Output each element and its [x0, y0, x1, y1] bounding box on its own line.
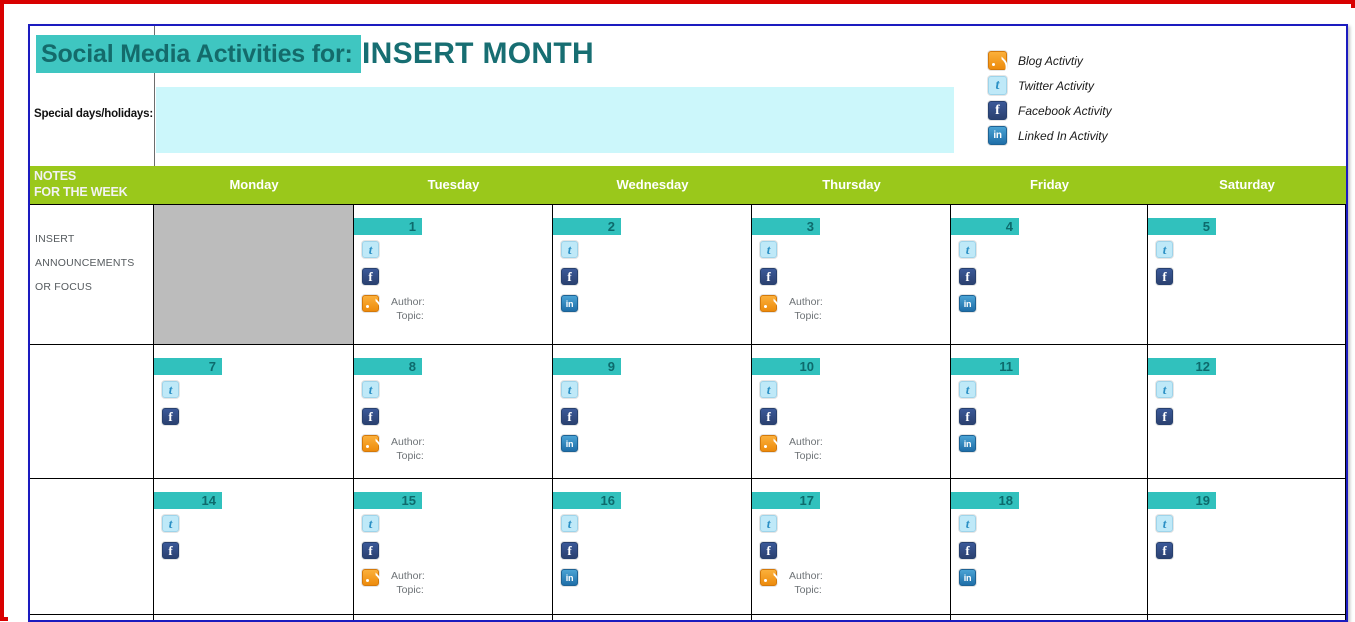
- activity-entry-facebook: [760, 268, 823, 295]
- activity-entry-twitter: [1156, 241, 1173, 268]
- day-cell[interactable]: [1148, 615, 1346, 620]
- activity-icon-stack: [561, 515, 578, 596]
- facebook-icon[interactable]: [760, 408, 777, 425]
- week-row: 1415Author:Topic:1617Author:Topic:1819: [30, 478, 1346, 614]
- activity-entry-linkedin: [561, 435, 578, 462]
- legend: Blog Activtiy Twitter Activity Facebook …: [988, 48, 1112, 148]
- activity-entry-blog: Author:Topic:: [362, 435, 425, 467]
- blog-rss-icon[interactable]: [760, 569, 777, 586]
- day-cell[interactable]: 5: [1148, 205, 1346, 344]
- linkedin-icon[interactable]: [561, 435, 578, 452]
- linkedin-icon: [988, 126, 1007, 145]
- activity-icon-stack: [162, 515, 179, 569]
- activity-entry-facebook: [760, 542, 823, 569]
- author-label: Author:: [789, 436, 823, 448]
- activity-entry-linkedin: [959, 569, 976, 596]
- activity-icon-stack: Author:Topic:: [362, 241, 425, 327]
- facebook-icon[interactable]: [362, 542, 379, 559]
- day-cell[interactable]: 9: [553, 345, 752, 478]
- twitter-icon[interactable]: [162, 381, 179, 398]
- date-badge: 15: [354, 492, 422, 509]
- legend-label-linkedin: Linked In Activity: [1018, 129, 1108, 143]
- date-badge: 17: [752, 492, 820, 509]
- day-cell[interactable]: 10Author:Topic:: [752, 345, 951, 478]
- week-row: INSERTANNOUNCEMENTSOR FOCUS1Author:Topic…: [30, 204, 1346, 344]
- author-label: Author:: [391, 436, 425, 448]
- activity-entry-facebook: [362, 268, 425, 295]
- activity-entry-twitter: [362, 241, 425, 268]
- activity-entry-twitter: [362, 381, 425, 408]
- activity-entry-twitter: [760, 241, 823, 268]
- topic-label: Topic:: [789, 449, 823, 463]
- twitter-icon[interactable]: [561, 241, 578, 258]
- blog-rss-icon[interactable]: [760, 435, 777, 452]
- topic-label: Topic:: [789, 583, 823, 597]
- facebook-icon[interactable]: [162, 542, 179, 559]
- activity-entry-twitter: [162, 515, 179, 542]
- date-badge: 2: [553, 218, 621, 235]
- notes-cell[interactable]: [30, 345, 154, 478]
- activity-entry-twitter: [959, 381, 976, 408]
- day-cell[interactable]: [154, 615, 354, 620]
- blog-author-topic-labels[interactable]: Author:Topic:: [789, 295, 823, 323]
- week-row: 78Author:Topic:910Author:Topic:1112: [30, 344, 1346, 478]
- notes-cell[interactable]: [30, 479, 154, 614]
- activity-entry-facebook: [362, 408, 425, 435]
- legend-label-facebook: Facebook Activity: [1018, 104, 1112, 118]
- activity-entry-twitter: [959, 241, 976, 268]
- activity-entry-twitter: [561, 381, 578, 408]
- day-header-thursday: Thursday: [752, 166, 951, 204]
- white-mat: Social Media Activities for: INSERT MONT…: [8, 8, 1355, 621]
- activity-entry-twitter: [362, 515, 425, 542]
- month-placeholder[interactable]: INSERT MONTH: [362, 34, 594, 74]
- twitter-icon[interactable]: [760, 515, 777, 532]
- activity-entry-linkedin: [561, 569, 578, 596]
- blog-rss-icon[interactable]: [362, 435, 379, 452]
- date-badge: 9: [553, 358, 621, 375]
- activity-entry-facebook: [162, 542, 179, 569]
- day-cell[interactable]: 8Author:Topic:: [354, 345, 553, 478]
- topic-label: Topic:: [391, 309, 425, 323]
- twitter-icon[interactable]: [1156, 515, 1173, 532]
- notes-header-line1: NOTES: [34, 168, 127, 184]
- sheet-header: Social Media Activities for: INSERT MONT…: [30, 26, 1346, 166]
- day-cell[interactable]: 14: [154, 479, 354, 614]
- blog-rss-icon[interactable]: [760, 295, 777, 312]
- facebook-icon[interactable]: [561, 542, 578, 559]
- activity-entry-twitter: [1156, 515, 1173, 542]
- linkedin-icon[interactable]: [959, 569, 976, 586]
- facebook-icon[interactable]: [760, 268, 777, 285]
- day-cell[interactable]: 18: [951, 479, 1148, 614]
- facebook-icon[interactable]: [959, 408, 976, 425]
- day-header-monday: Monday: [154, 166, 354, 204]
- twitter-icon[interactable]: [362, 241, 379, 258]
- activity-icon-stack: [1156, 381, 1173, 435]
- twitter-icon[interactable]: [1156, 241, 1173, 258]
- day-cell[interactable]: [354, 615, 553, 620]
- day-cell[interactable]: 19: [1148, 479, 1346, 614]
- topic-label: Topic:: [391, 583, 425, 597]
- activity-entry-facebook: [561, 268, 578, 295]
- activity-icon-stack: [959, 381, 976, 462]
- day-cell[interactable]: 3Author:Topic:: [752, 205, 951, 344]
- blog-rss-icon: [988, 51, 1007, 70]
- activity-entry-facebook: [760, 408, 823, 435]
- twitter-icon: [988, 76, 1007, 95]
- page-title-prefix: Social Media Activities for:: [36, 35, 361, 73]
- day-cell[interactable]: 15Author:Topic:: [354, 479, 553, 614]
- twitter-icon[interactable]: [561, 515, 578, 532]
- legend-item-twitter: Twitter Activity: [988, 73, 1112, 98]
- date-badge: 19: [1148, 492, 1216, 509]
- activity-entry-blog: Author:Topic:: [362, 295, 425, 327]
- day-header-row: NOTES FOR THE WEEK MondayTuesdayWednesda…: [30, 166, 1346, 204]
- twitter-icon[interactable]: [959, 241, 976, 258]
- blog-author-topic-labels[interactable]: Author:Topic:: [789, 569, 823, 597]
- date-badge: 10: [752, 358, 820, 375]
- activity-entry-facebook: [1156, 268, 1173, 295]
- activity-icon-stack: [1156, 241, 1173, 295]
- blog-author-topic-labels[interactable]: Author:Topic:: [789, 435, 823, 463]
- linkedin-icon[interactable]: [959, 295, 976, 312]
- activity-icon-stack: Author:Topic:: [362, 515, 425, 601]
- day-cell[interactable]: 12: [1148, 345, 1346, 478]
- notes-line: INSERT: [35, 227, 134, 251]
- legend-label-blog: Blog Activtiy: [1018, 54, 1083, 68]
- activity-entry-facebook: [959, 542, 976, 569]
- day-cell[interactable]: 1Author:Topic:: [354, 205, 553, 344]
- facebook-icon[interactable]: [561, 408, 578, 425]
- activity-icon-stack: [959, 515, 976, 596]
- date-badge: 11: [951, 358, 1019, 375]
- twitter-icon[interactable]: [959, 381, 976, 398]
- date-badge: 14: [154, 492, 222, 509]
- activity-entry-twitter: [760, 381, 823, 408]
- day-cell[interactable]: 2: [553, 205, 752, 344]
- day-cell-disabled: [154, 205, 354, 344]
- activity-icon-stack: Author:Topic:: [760, 241, 823, 327]
- activity-entry-linkedin: [561, 295, 578, 322]
- notes-column-header: NOTES FOR THE WEEK: [34, 168, 127, 200]
- blog-author-topic-labels[interactable]: Author:Topic:: [391, 295, 425, 323]
- topic-label: Topic:: [391, 449, 425, 463]
- twitter-icon[interactable]: [561, 381, 578, 398]
- activity-entry-facebook: [959, 268, 976, 295]
- facebook-icon[interactable]: [162, 408, 179, 425]
- blog-author-topic-labels[interactable]: Author:Topic:: [391, 435, 425, 463]
- activity-icon-stack: [561, 381, 578, 462]
- date-badge: 3: [752, 218, 820, 235]
- day-cell[interactable]: 11: [951, 345, 1148, 478]
- blog-rss-icon[interactable]: [362, 569, 379, 586]
- calendar-sheet: Social Media Activities for: INSERT MONT…: [30, 26, 1346, 620]
- blog-rss-icon[interactable]: [362, 295, 379, 312]
- facebook-icon[interactable]: [760, 542, 777, 559]
- activity-icon-stack: [1156, 515, 1173, 569]
- activity-icon-stack: [561, 241, 578, 322]
- author-label: Author:: [391, 296, 425, 308]
- linkedin-icon[interactable]: [561, 295, 578, 312]
- activity-entry-facebook: [561, 542, 578, 569]
- date-badge: 1: [354, 218, 422, 235]
- notes-line: OR FOCUS: [35, 275, 134, 299]
- day-header-wednesday: Wednesday: [553, 166, 752, 204]
- activity-entry-twitter: [760, 515, 823, 542]
- twitter-icon[interactable]: [959, 515, 976, 532]
- activity-entry-blog: Author:Topic:: [760, 295, 823, 327]
- linkedin-icon[interactable]: [959, 435, 976, 452]
- activity-entry-blog: Author:Topic:: [760, 569, 823, 601]
- outer-red-frame: Social Media Activities for: INSERT MONT…: [0, 0, 1355, 621]
- notes-text: INSERTANNOUNCEMENTSOR FOCUS: [35, 227, 134, 299]
- activity-icon-stack: [162, 381, 179, 435]
- activity-entry-twitter: [162, 381, 179, 408]
- activity-icon-stack: Author:Topic:: [760, 381, 823, 467]
- facebook-icon[interactable]: [959, 268, 976, 285]
- week-row: [30, 614, 1346, 620]
- legend-label-twitter: Twitter Activity: [1018, 79, 1094, 93]
- activity-entry-linkedin: [959, 435, 976, 462]
- author-label: Author:: [391, 570, 425, 582]
- twitter-icon[interactable]: [1156, 381, 1173, 398]
- day-cell[interactable]: [752, 615, 951, 620]
- notes-cell[interactable]: [30, 615, 154, 620]
- twitter-icon[interactable]: [362, 381, 379, 398]
- activity-entry-twitter: [1156, 381, 1173, 408]
- day-cell[interactable]: 17Author:Topic:: [752, 479, 951, 614]
- activity-icon-stack: Author:Topic:: [760, 515, 823, 601]
- special-days-input[interactable]: [156, 87, 954, 153]
- activity-entry-blog: Author:Topic:: [760, 435, 823, 467]
- activity-entry-facebook: [561, 408, 578, 435]
- date-badge: 4: [951, 218, 1019, 235]
- spreadsheet-window: Social Media Activities for: INSERT MONT…: [28, 24, 1348, 622]
- date-badge: 5: [1148, 218, 1216, 235]
- activity-entry-twitter: [561, 515, 578, 542]
- facebook-icon[interactable]: [362, 268, 379, 285]
- activity-entry-blog: Author:Topic:: [362, 569, 425, 601]
- facebook-icon[interactable]: [959, 542, 976, 559]
- day-header-friday: Friday: [951, 166, 1148, 204]
- day-header-saturday: Saturday: [1148, 166, 1346, 204]
- author-label: Author:: [789, 296, 823, 308]
- day-header-tuesday: Tuesday: [354, 166, 553, 204]
- facebook-icon[interactable]: [561, 268, 578, 285]
- linkedin-icon[interactable]: [561, 569, 578, 586]
- twitter-icon[interactable]: [760, 381, 777, 398]
- activity-entry-linkedin: [959, 295, 976, 322]
- day-cell[interactable]: 7: [154, 345, 354, 478]
- notes-line: ANNOUNCEMENTS: [35, 251, 134, 275]
- activity-entry-facebook: [162, 408, 179, 435]
- date-badge: 7: [154, 358, 222, 375]
- blog-author-topic-labels[interactable]: Author:Topic:: [391, 569, 425, 597]
- activity-entry-facebook: [1156, 408, 1173, 435]
- date-badge: 12: [1148, 358, 1216, 375]
- date-badge: 8: [354, 358, 422, 375]
- activity-entry-twitter: [959, 515, 976, 542]
- facebook-icon[interactable]: [1156, 268, 1173, 285]
- notes-cell[interactable]: INSERTANNOUNCEMENTSOR FOCUS: [30, 205, 154, 344]
- facebook-icon: [988, 101, 1007, 120]
- date-badge: 16: [553, 492, 621, 509]
- date-badge: 18: [951, 492, 1019, 509]
- facebook-icon[interactable]: [1156, 542, 1173, 559]
- legend-item-linkedin: Linked In Activity: [988, 123, 1112, 148]
- activity-entry-facebook: [362, 542, 425, 569]
- twitter-icon[interactable]: [362, 515, 379, 532]
- day-cell[interactable]: 4: [951, 205, 1148, 344]
- twitter-icon[interactable]: [162, 515, 179, 532]
- legend-item-blog: Blog Activtiy: [988, 48, 1112, 73]
- activity-entry-facebook: [959, 408, 976, 435]
- author-label: Author:: [789, 570, 823, 582]
- activity-icon-stack: [959, 241, 976, 322]
- activity-icon-stack: Author:Topic:: [362, 381, 425, 467]
- activity-entry-twitter: [561, 241, 578, 268]
- activity-entry-facebook: [1156, 542, 1173, 569]
- day-cell[interactable]: 16: [553, 479, 752, 614]
- twitter-icon[interactable]: [760, 241, 777, 258]
- notes-header-line2: FOR THE WEEK: [34, 184, 127, 200]
- facebook-icon[interactable]: [362, 408, 379, 425]
- facebook-icon[interactable]: [1156, 408, 1173, 425]
- day-cell[interactable]: [951, 615, 1148, 620]
- special-days-label: Special days/holidays:: [34, 108, 153, 120]
- day-cell[interactable]: [553, 615, 752, 620]
- legend-item-facebook: Facebook Activity: [988, 98, 1112, 123]
- topic-label: Topic:: [789, 309, 823, 323]
